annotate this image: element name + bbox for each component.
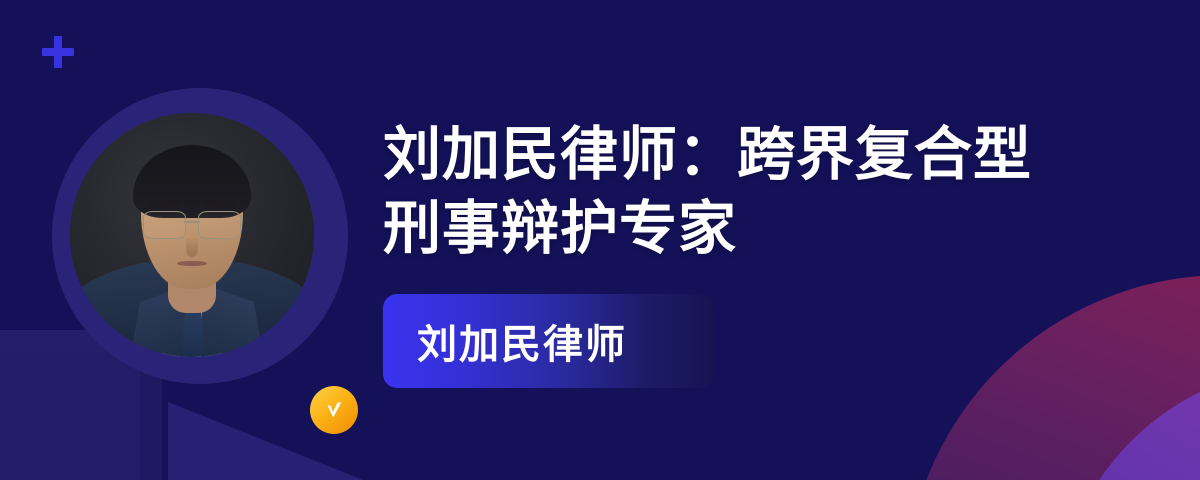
profile-banner: 刘加民律师：跨界复合型 刑事辩护专家 刘加民律师 (0, 0, 1200, 480)
arc-magenta-shape (905, 275, 1200, 480)
lawyer-name-button[interactable]: 刘加民律师 (383, 294, 713, 388)
glasses-lens-right (198, 211, 241, 240)
headline-block: 刘加民律师：跨界复合型 刑事辩护专家 (383, 118, 1083, 266)
glasses-bridge (184, 221, 200, 223)
portrait-nose (186, 235, 198, 257)
avatar-photo (70, 113, 314, 357)
plus-icon (42, 36, 74, 68)
portrait-glasses (143, 211, 241, 238)
arc-purple-shape (1055, 365, 1200, 480)
verified-check-icon (319, 395, 349, 425)
verified-badge (310, 386, 358, 434)
page-title: 刘加民律师：跨界复合型 刑事辩护专家 (383, 118, 1083, 266)
glasses-lens-left (143, 211, 186, 240)
avatar[interactable] (52, 88, 348, 384)
